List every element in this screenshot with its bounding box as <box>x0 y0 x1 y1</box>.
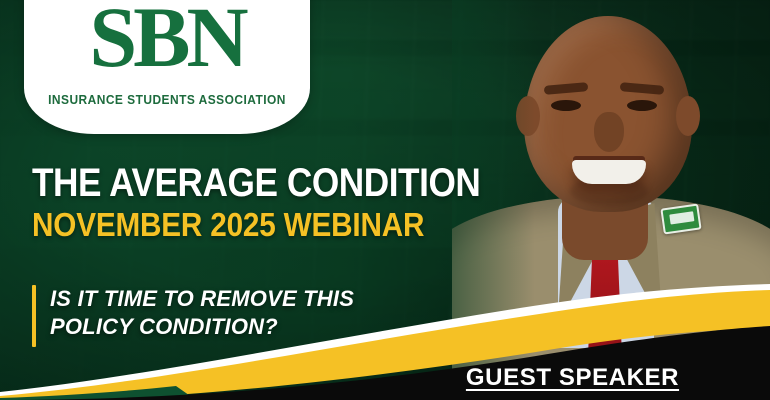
event-type: WEBINAR <box>284 206 425 243</box>
sbn-logo-badge: SBN INSURANCE STUDENTS ASSOCIATION <box>24 0 310 134</box>
headline-block: THE AVERAGE CONDITION NOVEMBER 2025 WEBI… <box>32 164 502 241</box>
bottom-sweep-graphics: GUEST SPEAKER <box>0 280 770 400</box>
event-date: NOVEMBER 2025 <box>32 206 276 243</box>
logo-subtitle: INSURANCE STUDENTS ASSOCIATION <box>35 92 298 107</box>
guest-speaker-label: GUEST SPEAKER <box>375 364 770 392</box>
guest-speaker-area: GUEST SPEAKER <box>375 364 770 398</box>
event-subtitle: NOVEMBER 2025 WEBINAR <box>32 208 455 241</box>
logo-wordmark: SBN <box>24 0 310 80</box>
page-title: THE AVERAGE CONDITION <box>32 164 446 202</box>
webinar-flyer: SBN INSURANCE STUDENTS ASSOCIATION THE A… <box>0 0 770 400</box>
